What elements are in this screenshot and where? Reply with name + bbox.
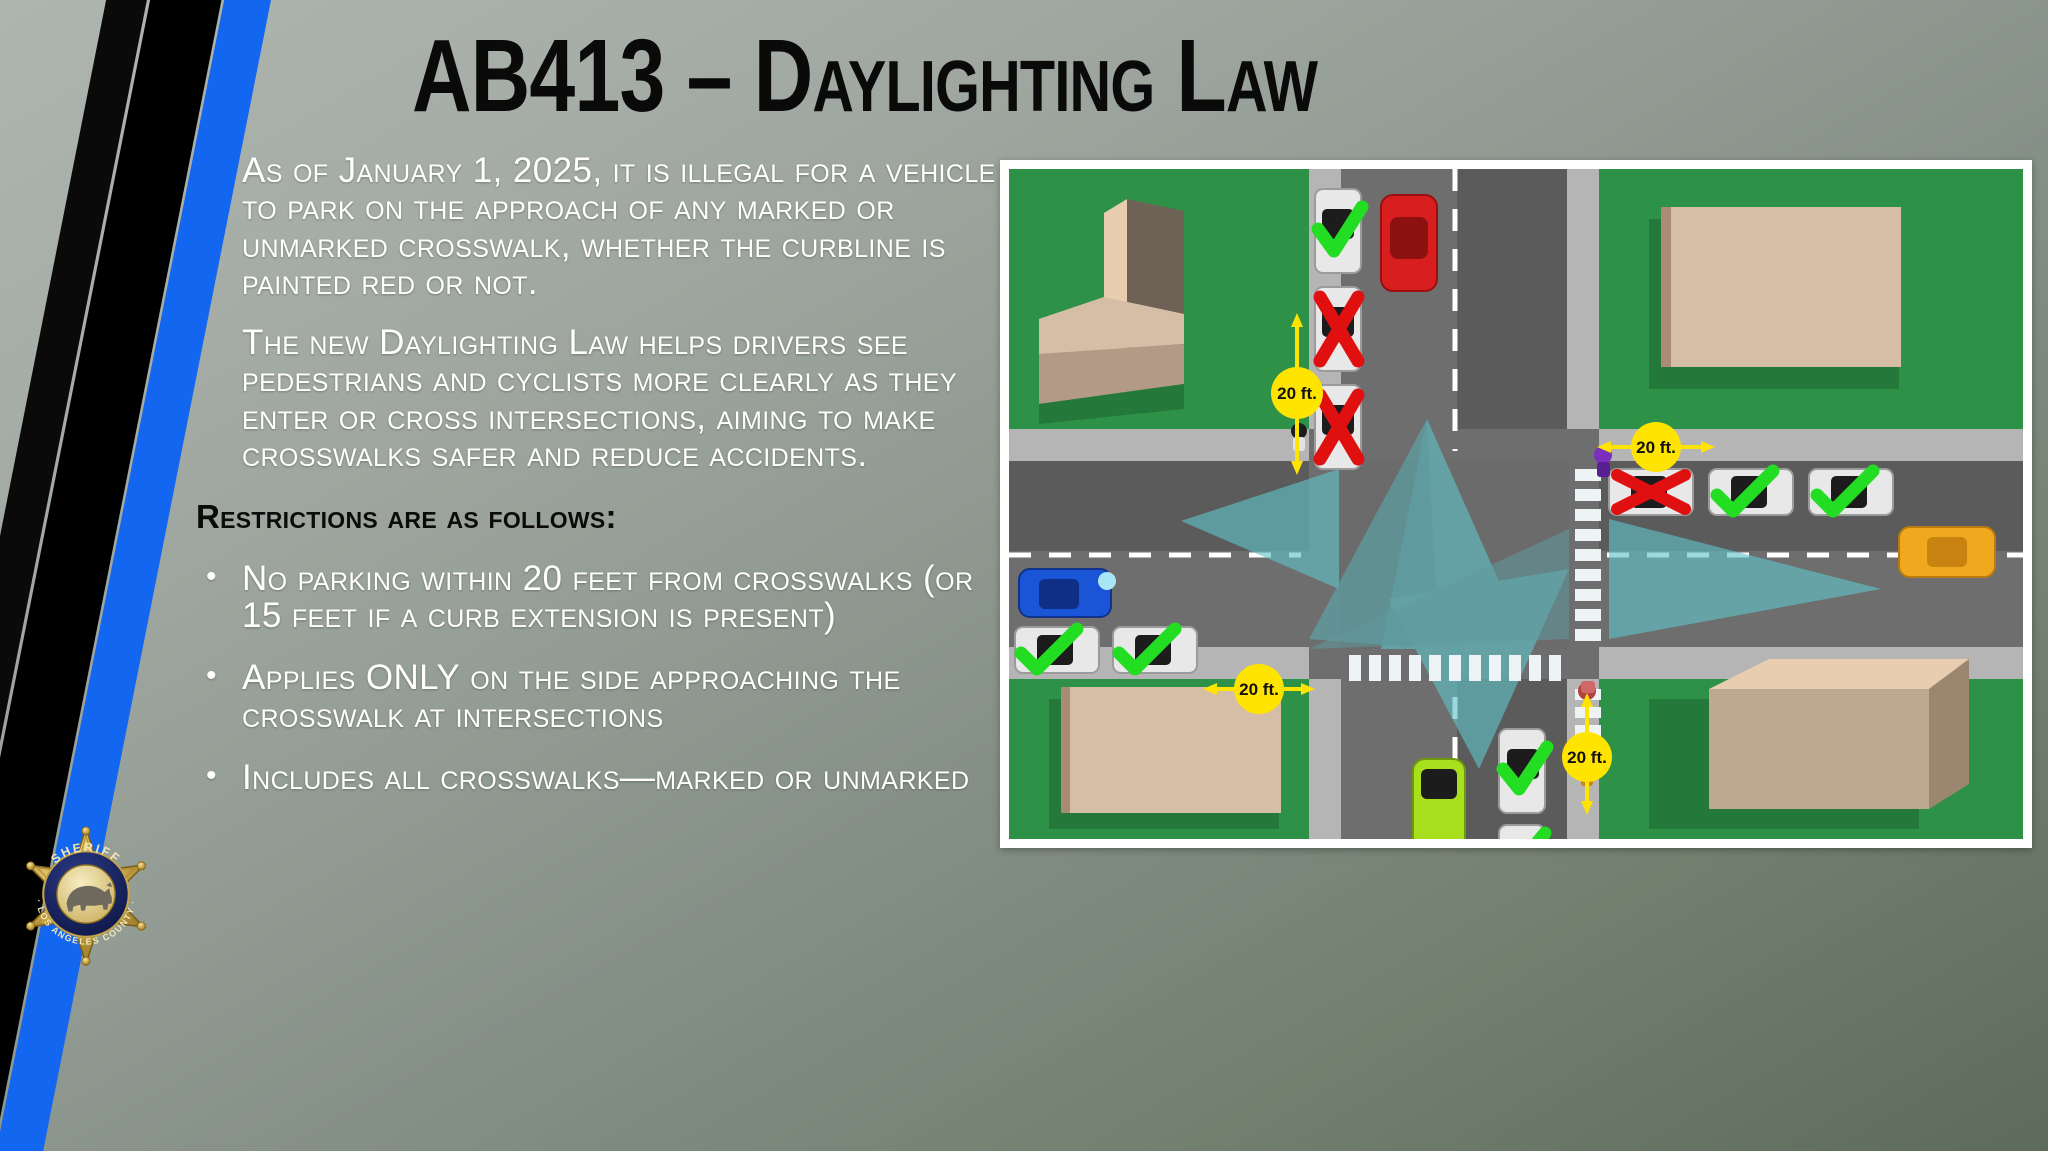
crosswalk-south	[1349, 655, 1561, 681]
table-row	[1609, 469, 1693, 515]
table-row	[1315, 287, 1361, 371]
distance-label: 20 ft.	[1636, 438, 1676, 457]
bullet-marker: •	[206, 658, 217, 694]
diagram-frame: 20 ft. 20 ft. 20 ft.	[1000, 160, 2032, 848]
building-northeast	[1649, 207, 1901, 389]
bullet-text: Includes all crosswalks—marked or unmark…	[242, 758, 969, 797]
table-row	[1315, 189, 1362, 273]
bullet-text-emphasis: ONLY	[366, 658, 460, 697]
sheriff-badge: SHERIFF · LOS ANGELES COUNTY ·	[18, 826, 154, 966]
slide-canvas: SHERIFF · LOS ANGELES COUNTY · AB413 – D…	[0, 0, 2048, 1151]
page-title: AB413 – Daylighting Law	[412, 24, 1308, 127]
vehicle-moving-north	[1381, 195, 1437, 291]
bullet-text-lead: Applies	[242, 658, 366, 697]
bullet-text: No parking within 20 feet from crosswalk…	[242, 559, 973, 636]
body-content: As of January 1, 2025, it is illegal for…	[196, 152, 996, 820]
bullet-marker: •	[206, 758, 217, 794]
paragraph-purpose: The new Daylighting Law helps drivers se…	[196, 324, 996, 474]
table-row	[1499, 729, 1547, 813]
table-row	[1113, 627, 1197, 673]
daylighting-intersection-diagram: 20 ft. 20 ft. 20 ft.	[1009, 169, 2023, 839]
table-row	[1709, 469, 1793, 515]
paragraph-intro: As of January 1, 2025, it is illegal for…	[196, 152, 996, 302]
table-row	[1809, 469, 1893, 515]
distance-label: 20 ft.	[1239, 680, 1279, 699]
building-northwest	[1039, 199, 1184, 424]
restrictions-heading: Restrictions are as follows:	[196, 498, 996, 536]
table-row	[1015, 627, 1099, 673]
vehicle-moving-south	[1413, 759, 1465, 839]
list-item: • Includes all crosswalks—marked or unma…	[196, 759, 996, 797]
distance-label: 20 ft.	[1567, 748, 1607, 767]
vehicle-moving-west	[1019, 569, 1116, 617]
vehicle-moving-east	[1899, 527, 1995, 577]
list-item: • Applies ONLY on the side approaching t…	[196, 659, 996, 735]
distance-label: 20 ft.	[1277, 384, 1317, 403]
list-item: • No parking within 20 feet from crosswa…	[196, 560, 996, 636]
bullet-marker: •	[206, 559, 217, 595]
crosswalk-east	[1575, 469, 1601, 641]
table-row	[1499, 825, 1545, 839]
